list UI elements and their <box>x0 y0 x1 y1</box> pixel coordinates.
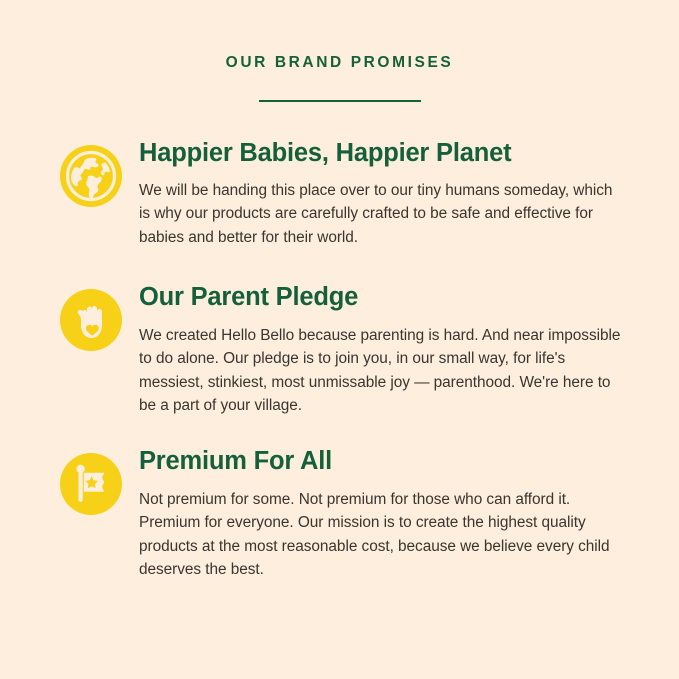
promise-item: Premium For All Not premium for some. No… <box>60 447 639 581</box>
promise-text: We will be handing this place over to ou… <box>139 179 625 249</box>
promise-title: Premium For All <box>139 447 639 476</box>
promise-body: Our Parent Pledge We created Hello Bello… <box>139 283 639 417</box>
promise-item: Happier Babies, Happier Planet We will b… <box>60 139 639 250</box>
page-header: OUR BRAND PROMISES <box>0 0 679 102</box>
page-title: OUR BRAND PROMISES <box>0 55 679 71</box>
promises-list: Happier Babies, Happier Planet We will b… <box>0 139 679 582</box>
brand-promises-page: OUR BRAND PROMISES Happier Babies, Happi… <box>0 0 679 679</box>
promise-title: Happier Babies, Happier Planet <box>139 139 639 168</box>
hand-heart-icon <box>60 289 122 351</box>
globe-icon <box>60 145 122 207</box>
promise-text: We created Hello Bello because parenting… <box>139 324 625 418</box>
flag-star-icon <box>60 453 122 515</box>
promise-title: Our Parent Pledge <box>139 283 639 312</box>
promise-item: Our Parent Pledge We created Hello Bello… <box>60 283 639 417</box>
promise-body: Happier Babies, Happier Planet We will b… <box>139 139 639 250</box>
promise-text: Not premium for some. Not premium for th… <box>139 488 625 582</box>
promise-body: Premium For All Not premium for some. No… <box>139 447 639 581</box>
header-divider <box>259 100 421 102</box>
